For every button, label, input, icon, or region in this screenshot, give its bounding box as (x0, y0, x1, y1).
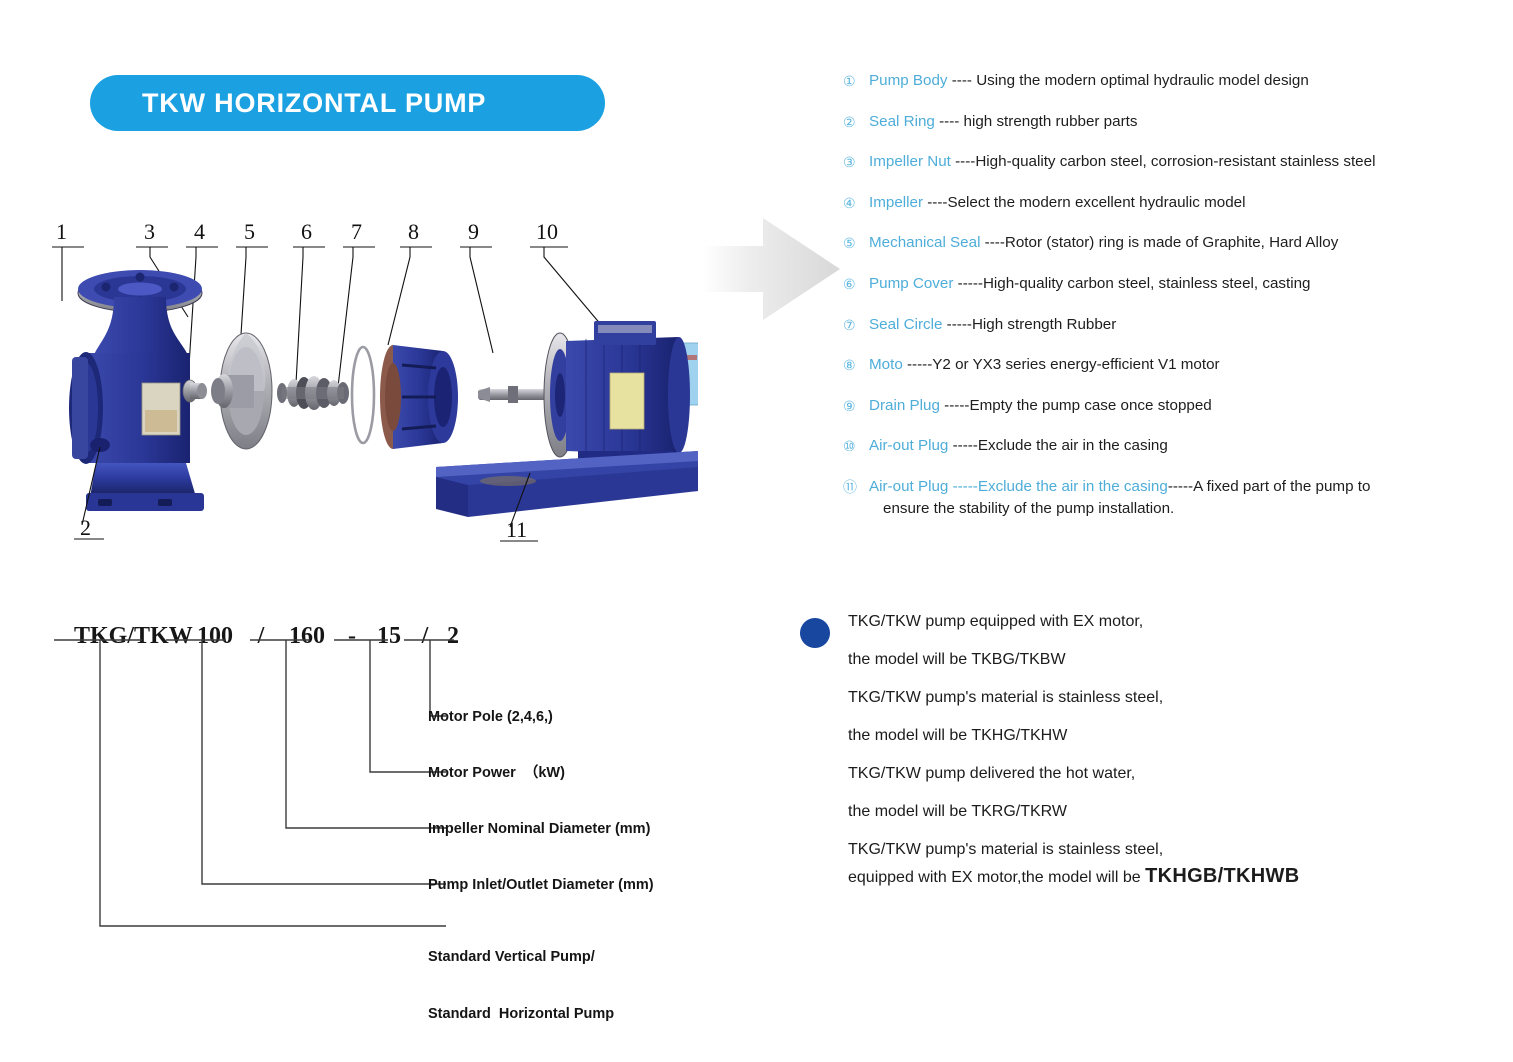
svg-text:8: 8 (408, 219, 419, 244)
legend-dash-7: ----- (942, 316, 972, 333)
model-code-breakdown: TKG/TKW100/160-15/2 M (38, 596, 738, 956)
legend-text-2: Seal Ring ---- high strength rubber part… (869, 111, 1503, 131)
legend-dash-10: ----- (948, 437, 978, 454)
legend-part-name-7: Seal Circle (869, 316, 942, 333)
model-leader-lines (38, 596, 738, 956)
legend-item-10: ⑩ Air-out Plug -----Exclude the air in t… (843, 435, 1503, 476)
legend-number-9: ⑨ (843, 395, 869, 416)
legend-part-name-1: Pump Body (869, 72, 948, 89)
legend-dash-3: ---- (951, 153, 975, 170)
legend-part-desc-8: Y2 or YX3 series energy-efficient V1 mot… (932, 356, 1219, 373)
legend-text-3: Impeller Nut ----High-quality carbon ste… (869, 151, 1503, 171)
legend-dash-9: ----- (940, 397, 970, 414)
legend-item-2: ② Seal Ring ---- high strength rubber pa… (843, 111, 1503, 152)
base-plate-part (436, 451, 698, 517)
legend-number-4: ④ (843, 192, 869, 213)
legend-item-1: ① Pump Body ---- Using the modern optima… (843, 70, 1503, 111)
legend-text-10: Air-out Plug -----Exclude the air in the… (869, 435, 1503, 455)
legend-part-name-5: Mechanical Seal (869, 234, 980, 251)
legend-part-desc-10: Exclude the air in the casing (978, 437, 1168, 454)
svg-text:10: 10 (536, 219, 558, 244)
legend-item-6: ⑥ Pump Cover -----High-quality carbon st… (843, 273, 1503, 314)
legend-item-9: ⑨ Drain Plug -----Empty the pump case on… (843, 395, 1503, 436)
svg-text:11: 11 (506, 517, 527, 542)
legend-number-7: ⑦ (843, 314, 869, 335)
poster-canvas: TKW HORIZONTAL PUMP (0, 0, 1513, 1000)
legend-number-10: ⑩ (843, 435, 869, 456)
legend-dash-8: ----- (903, 356, 933, 373)
legend-text-5: Mechanical Seal ----Rotor (stator) ring … (869, 232, 1503, 252)
legend-number-1: ① (843, 70, 869, 91)
legend-number-8: ⑧ (843, 354, 869, 375)
legend-part-desc-7: High strength Rubber (972, 316, 1116, 333)
leader-label-standard-pump-line2: Standard Horizontal Pump (428, 1005, 614, 1024)
legend-part-desc-1: Using the modern optimal hydraulic model… (976, 72, 1309, 89)
seal-circle-part (352, 347, 374, 443)
impeller-nut-part (183, 380, 207, 402)
title-banner-text: TKW HORIZONTAL PUMP (90, 88, 486, 119)
legend-dash-5: ---- (980, 234, 1004, 251)
leader-label-inlet-outlet-diameter: Pump Inlet/Outlet Diameter (mm) (428, 876, 654, 895)
svg-text:1: 1 (56, 219, 67, 244)
callout-numbers-top: 1 3 4 5 6 7 8 9 10 (56, 219, 558, 244)
legend-part-desc-4: Select the modern excellent hydraulic mo… (947, 194, 1245, 211)
notes-body: TKG/TKW pump equipped with EX motor, the… (848, 612, 1440, 894)
svg-text:3: 3 (144, 219, 155, 244)
svg-text:7: 7 (351, 219, 362, 244)
svg-text:2: 2 (80, 515, 91, 540)
legend-item-7: ⑦ Seal Circle -----High strength Rubber (843, 314, 1503, 355)
legend-text-6: Pump Cover -----High-quality carbon stee… (869, 273, 1503, 293)
legend-part-desc-9: Empty the pump case once stopped (969, 397, 1211, 414)
exploded-pump-illustration: 1 3 4 5 6 7 8 9 10 (38, 205, 698, 565)
legend-text-11: Air-out Plug -----Exclude the air in the… (869, 476, 1503, 518)
legend-part-name-9: Drain Plug (869, 397, 940, 414)
legend-part-name-10: Air-out Plug (869, 437, 948, 454)
impeller-part (211, 333, 272, 449)
legend-part-name-8: Moto (869, 356, 903, 373)
callout-numbers-bottom: 2 11 (80, 515, 527, 542)
legend-part-desc-6: High-quality carbon steel, stainless ste… (983, 275, 1311, 292)
legend-text-4: Impeller ----Select the modern excellent… (869, 192, 1503, 212)
note-line-8: equipped with EX motor,the model will be… (848, 867, 1440, 894)
legend-part-name-11: Air-out Plug -----Exclude the air in the… (869, 478, 1168, 495)
legend-part-desc-3: High-quality carbon steel, corrosion-res… (975, 153, 1375, 170)
legend-part-desc-5: Rotor (stator) ring is made of Graphite,… (1005, 234, 1338, 251)
legend-item-5: ⑤ Mechanical Seal ----Rotor (stator) rin… (843, 232, 1503, 273)
legend-dash-1: ---- (948, 72, 977, 89)
note-line-5: TKG/TKW pump delivered the hot water, (848, 764, 1440, 802)
legend-item-4: ④ Impeller ----Select the modern excelle… (843, 192, 1503, 233)
legend-number-2: ② (843, 111, 869, 132)
note-line-8-model: TKHGB/TKHWB (1145, 865, 1299, 887)
legend-text-7: Seal Circle -----High strength Rubber (869, 314, 1503, 334)
note-line-4: the model will be TKHG/TKHW (848, 726, 1440, 764)
legend-part-name-2: Seal Ring (869, 113, 935, 130)
note-line-2: the model will be TKBG/TKBW (848, 650, 1440, 688)
note-line-7: TKG/TKW pump's material is stainless ste… (848, 840, 1440, 867)
pump-cover-part (380, 345, 458, 449)
legend-number-11: ⑪ (843, 476, 869, 497)
legend-part-desc-11: -----A fixed part of the pump to (1168, 478, 1371, 495)
svg-text:5: 5 (244, 219, 255, 244)
legend-number-6: ⑥ (843, 273, 869, 294)
title-banner: TKW HORIZONTAL PUMP (90, 75, 605, 131)
legend-number-3: ③ (843, 151, 869, 172)
legend-item-8: ⑧ Moto -----Y2 or YX3 series energy-effi… (843, 354, 1503, 395)
leader-label-standard-pump: Standard Vertical Pump/ Standard Horizon… (428, 910, 614, 1062)
leader-label-motor-power: Motor Power （kW) (428, 764, 565, 783)
note-line-3: TKG/TKW pump's material is stainless ste… (848, 688, 1440, 726)
legend-part-name-3: Impeller Nut (869, 153, 951, 170)
legend-dash-2: ---- (935, 113, 964, 130)
legend-item-11: ⑪ Air-out Plug -----Exclude the air in t… (843, 476, 1503, 518)
note-line-8-prefix: equipped with EX motor,the model will be (848, 869, 1145, 886)
leader-label-impeller-diameter: Impeller Nominal Diameter (mm) (428, 820, 650, 839)
legend-part-desc-11-continuation: ensure the stability of the pump install… (869, 499, 1503, 518)
model-variant-notes: TKG/TKW pump equipped with EX motor, the… (800, 612, 1440, 894)
note-line-6: the model will be TKRG/TKRW (848, 802, 1440, 840)
parts-legend-list: ① Pump Body ---- Using the modern optima… (843, 70, 1503, 518)
svg-text:4: 4 (194, 219, 205, 244)
legend-item-3: ③ Impeller Nut ----High-quality carbon s… (843, 151, 1503, 192)
legend-number-5: ⑤ (843, 232, 869, 253)
legend-text-9: Drain Plug -----Empty the pump case once… (869, 395, 1503, 415)
legend-part-name-6: Pump Cover (869, 275, 953, 292)
flow-arrow-icon (700, 212, 845, 327)
legend-part-desc-2: high strength rubber parts (964, 113, 1138, 130)
bullet-point-icon (800, 618, 830, 648)
legend-text-8: Moto -----Y2 or YX3 series energy-effici… (869, 354, 1503, 374)
leader-label-motor-pole: Motor Pole (2,4,6,) (428, 708, 553, 727)
svg-text:6: 6 (301, 219, 312, 244)
leader-label-standard-pump-line1: Standard Vertical Pump/ (428, 948, 614, 967)
legend-dash-4: ---- (923, 194, 947, 211)
legend-dash-6: ----- (953, 275, 983, 292)
legend-part-name-4: Impeller (869, 194, 923, 211)
svg-text:9: 9 (468, 219, 479, 244)
legend-text-1: Pump Body ---- Using the modern optimal … (869, 70, 1503, 90)
note-line-1: TKG/TKW pump equipped with EX motor, (848, 612, 1440, 650)
motor-part (478, 321, 698, 467)
